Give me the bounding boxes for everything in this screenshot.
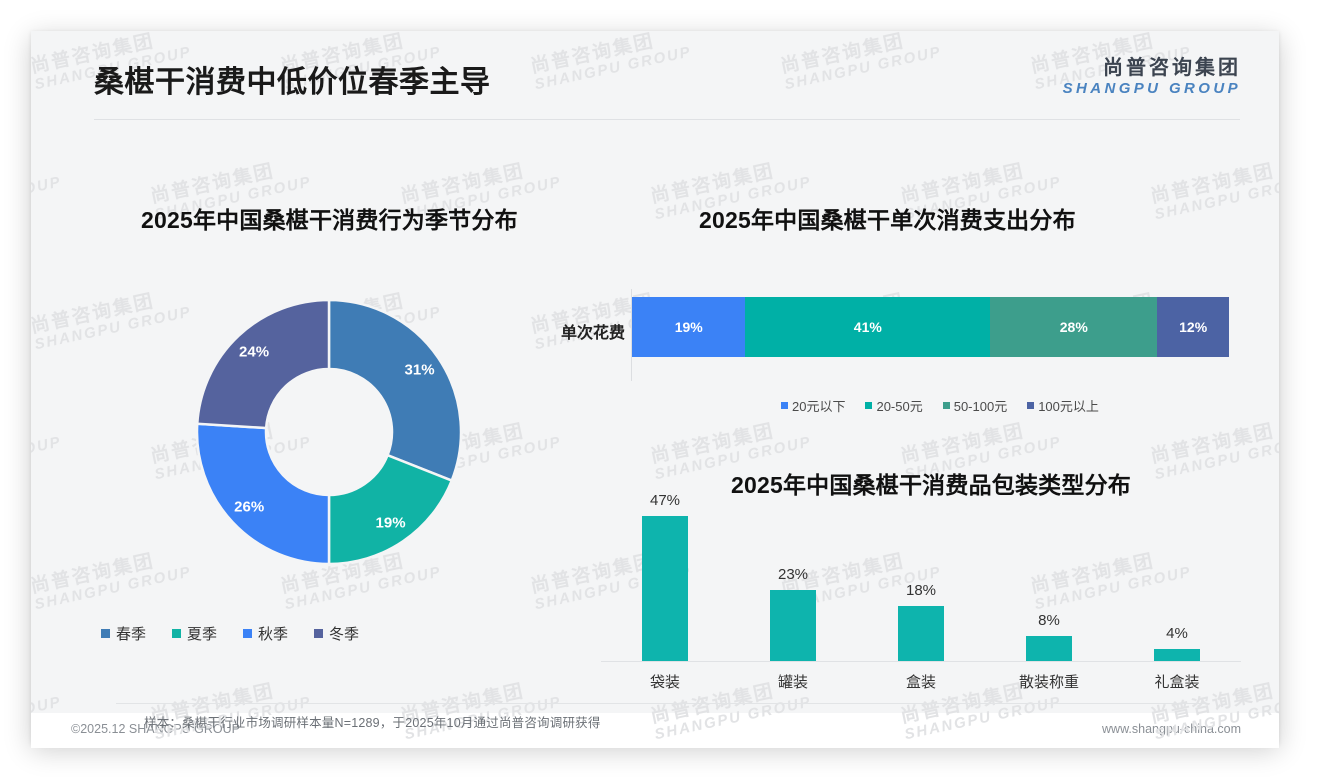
stacked-bar-segment-value: 19% xyxy=(675,319,703,335)
legend-label: 春季 xyxy=(116,623,146,644)
column-bar-value-label: 8% xyxy=(1026,612,1072,629)
stacked-bar-legend-item[interactable]: 100元以上 xyxy=(1027,396,1099,415)
legend-swatch-icon xyxy=(1027,402,1034,409)
legend-swatch-icon xyxy=(101,629,110,638)
column-bar-rect xyxy=(642,516,688,661)
logo-chinese-text: 尚普咨询集团 xyxy=(1063,57,1241,80)
legend-label: 夏季 xyxy=(187,623,217,644)
donut-legend-item[interactable]: 秋季 xyxy=(243,623,288,644)
stacked-bar-chart-title: 2025年中国桑椹干单次消费支出分布 xyxy=(699,201,1076,235)
column-bar-rect xyxy=(770,590,816,661)
donut-svg xyxy=(194,297,464,567)
column-bar-category-label: 罐装 xyxy=(738,671,848,692)
donut-chart: 31%19%26%24% xyxy=(131,289,521,629)
column-bar-category-label: 盒装 xyxy=(866,671,976,692)
column-bar[interactable]: 47%袋装 xyxy=(642,501,688,661)
donut-slice-0[interactable] xyxy=(329,300,461,481)
stacked-bar-legend-item[interactable]: 50-100元 xyxy=(943,396,1007,415)
stacked-bar-segment[interactable]: 19% xyxy=(632,297,745,357)
stacked-bar-segment[interactable]: 28% xyxy=(990,297,1157,357)
donut-slice-label: 31% xyxy=(405,362,435,379)
column-chart-plot: 47%袋装23%罐装18%盒装8%散装称重4%礼盒装 xyxy=(601,501,1241,661)
logo-english-text: SHANGPU GROUP xyxy=(1063,80,1241,97)
column-bar[interactable]: 18%盒装 xyxy=(898,501,944,661)
column-bar-rect xyxy=(1026,636,1072,661)
slide-card: 尚普咨询集团SHANGPU GROUP尚普咨询集团SHANGPU GROUP尚普… xyxy=(31,31,1279,744)
donut-legend-item[interactable]: 夏季 xyxy=(172,623,217,644)
column-bar-category-label: 散装称重 xyxy=(994,671,1104,692)
stacked-bar-category-label: 单次花费 xyxy=(533,319,625,343)
stacked-bar-legend: 20元以下20-50元50-100元100元以上 xyxy=(781,396,1119,415)
stacked-bar-legend-item[interactable]: 20元以下 xyxy=(781,396,845,415)
legend-swatch-icon xyxy=(172,629,181,638)
donut-slice-label: 19% xyxy=(376,514,406,531)
column-bar-value-label: 23% xyxy=(770,566,816,583)
legend-swatch-icon xyxy=(865,402,872,409)
column-bar-rect xyxy=(898,606,944,661)
legend-label: 冬季 xyxy=(329,623,359,644)
column-chart-baseline xyxy=(601,661,1241,662)
donut-legend: 春季夏季秋季冬季 xyxy=(101,623,359,644)
donut-legend-item[interactable]: 冬季 xyxy=(314,623,359,644)
legend-label: 秋季 xyxy=(258,623,288,644)
header-divider xyxy=(94,119,1240,120)
stacked-bar-segment-value: 28% xyxy=(1060,319,1088,335)
donut-legend-item[interactable]: 春季 xyxy=(101,623,146,644)
column-bar-value-label: 47% xyxy=(642,492,688,509)
stacked-bar-segment-value: 41% xyxy=(854,319,882,335)
page-title: 桑椹干消费中低价位春季主导 xyxy=(94,57,491,101)
legend-label: 20-50元 xyxy=(876,396,922,415)
source-note: 样本：桑椹干行业市场调研样本量N=1289，于2025年10月通过尚普咨询调研获… xyxy=(144,712,601,731)
column-bar-category-label: 礼盒装 xyxy=(1122,671,1232,692)
column-chart-title: 2025年中国桑椹干消费品包装类型分布 xyxy=(731,466,1131,500)
stacked-bar-track: 19%41%28%12% xyxy=(632,297,1229,357)
legend-label: 50-100元 xyxy=(954,396,1007,415)
stacked-bar-segment[interactable]: 12% xyxy=(1157,297,1229,357)
stacked-bar-segment-value: 12% xyxy=(1179,319,1207,335)
donut-slice-2[interactable] xyxy=(197,424,329,564)
legend-label: 100元以上 xyxy=(1038,396,1099,415)
stacked-bar-segment[interactable]: 41% xyxy=(745,297,990,357)
donut-chart-title: 2025年中国桑椹干消费行为季节分布 xyxy=(141,201,518,235)
column-bar[interactable]: 4%礼盒装 xyxy=(1154,501,1200,661)
slide-header: 桑椹干消费中低价位春季主导 尚普咨询集团 SHANGPU GROUP xyxy=(31,31,1279,119)
legend-swatch-icon xyxy=(243,629,252,638)
donut-slice-label: 24% xyxy=(239,344,269,361)
column-chart: 47%袋装23%罐装18%盒装8%散装称重4%礼盒装 xyxy=(591,501,1251,701)
stacked-bar-chart: 单次花费 19%41%28%12% xyxy=(531,289,1251,409)
column-bar[interactable]: 8%散装称重 xyxy=(1026,501,1072,661)
source-divider xyxy=(116,703,1206,704)
donut-slice-3[interactable] xyxy=(197,300,329,428)
legend-swatch-icon xyxy=(943,402,950,409)
stacked-bar-legend-item[interactable]: 20-50元 xyxy=(865,396,922,415)
donut-slice-label: 26% xyxy=(234,498,264,515)
column-bar-value-label: 4% xyxy=(1154,625,1200,642)
brand-logo: 尚普咨询集团 SHANGPU GROUP xyxy=(1063,57,1241,97)
legend-swatch-icon xyxy=(781,402,788,409)
column-bar-value-label: 18% xyxy=(898,582,944,599)
column-bar-category-label: 袋装 xyxy=(610,671,720,692)
legend-swatch-icon xyxy=(314,629,323,638)
column-bar[interactable]: 23%罐装 xyxy=(770,501,816,661)
column-bar-rect xyxy=(1154,649,1200,661)
legend-label: 20元以下 xyxy=(792,396,845,415)
